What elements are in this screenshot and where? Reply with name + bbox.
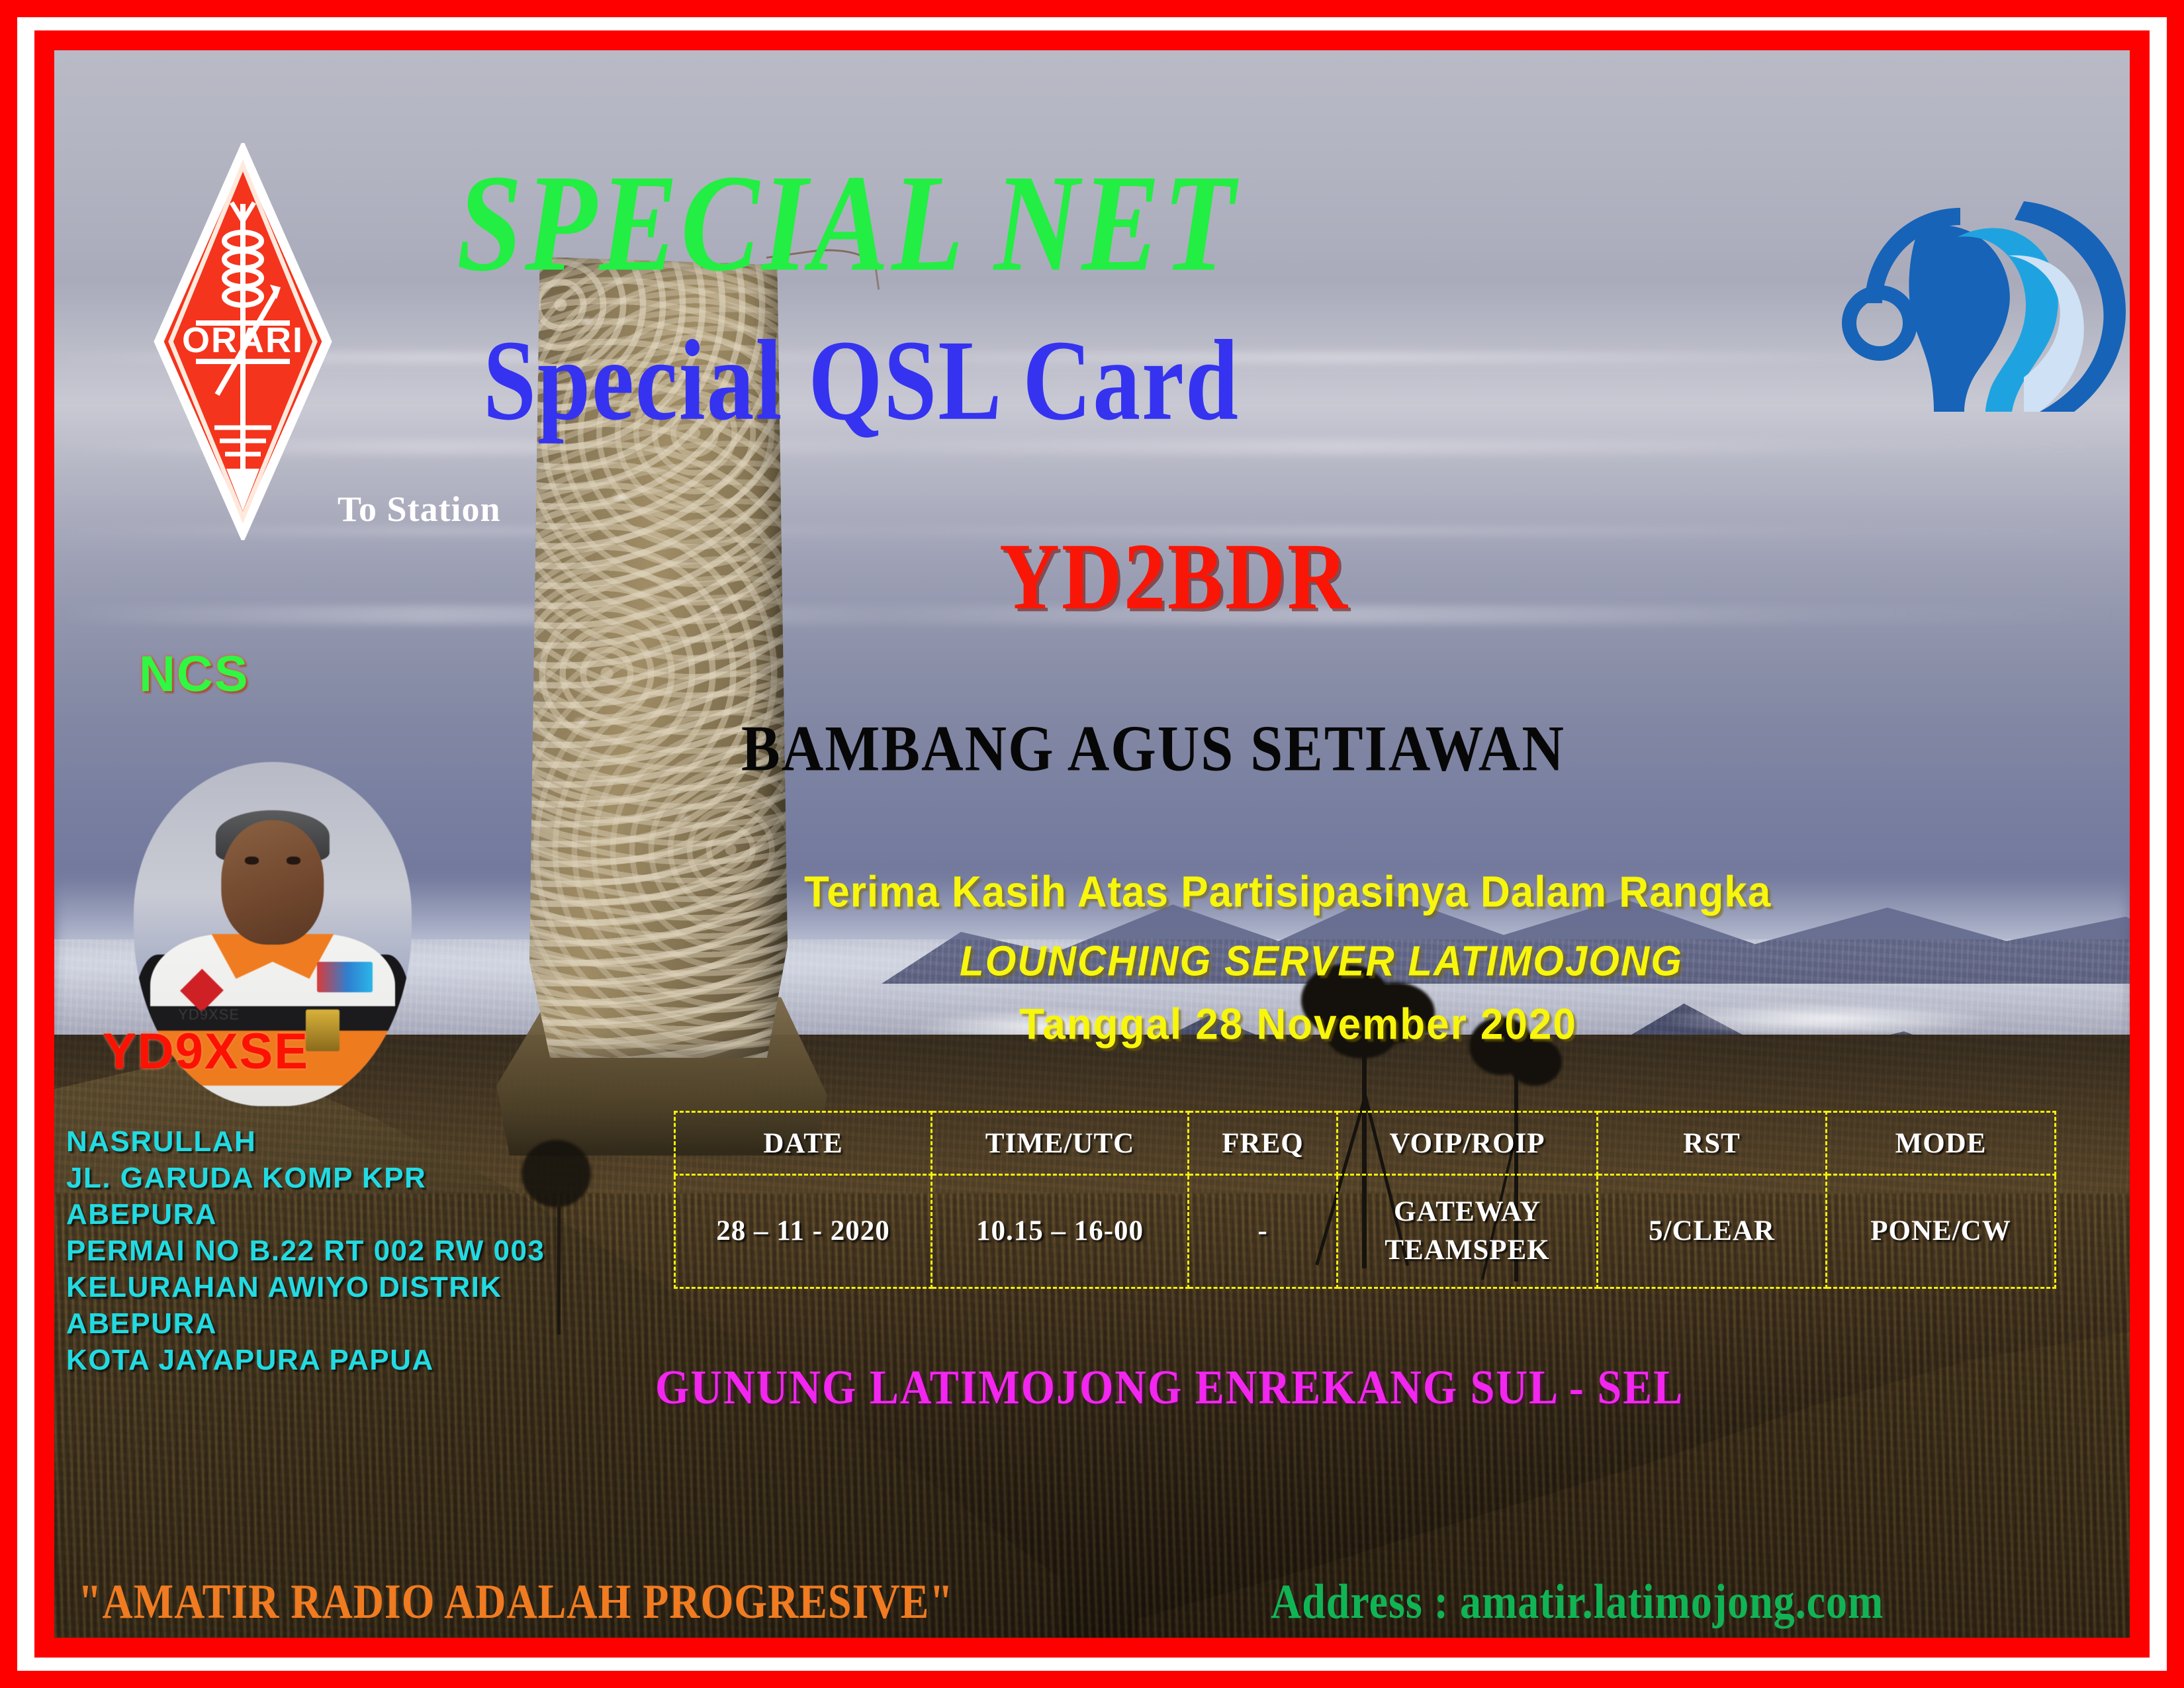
qso-details-table: DATE TIME/UTC FREQ VOIP/ROIP RST MODE 28… xyxy=(674,1111,2056,1289)
address-line: KOTA JAYAPURA PAPUA xyxy=(66,1342,545,1378)
address-line: NASRULLAH xyxy=(66,1123,545,1160)
address-line: JL. GARUDA KOMP KPR xyxy=(66,1160,545,1196)
address-line: ABEPURA xyxy=(66,1196,545,1233)
qsl-card: ORARI xyxy=(0,0,2184,1688)
address-line: ABEPURA xyxy=(66,1305,545,1342)
ncs-label: NCS xyxy=(139,645,249,703)
headset-speech-waves-logo xyxy=(1841,150,2126,414)
col-header-time-utc: TIME/UTC xyxy=(932,1112,1189,1175)
address-line: KELURAHAN AWIYO DISTRIK xyxy=(66,1269,545,1305)
cell-date: 28 – 11 - 2020 xyxy=(675,1175,932,1288)
table-row: 28 – 11 - 2020 10.15 – 16-00 - GATEWAY T… xyxy=(675,1175,2056,1288)
footer-motto: "AMATIR RADIO ADALAH PROGRESIVE" xyxy=(78,1574,954,1630)
col-header-mode: MODE xyxy=(1827,1112,2056,1175)
ncs-callsign: YD9XSE xyxy=(103,1023,309,1080)
table-header-row: DATE TIME/UTC FREQ VOIP/ROIP RST MODE xyxy=(675,1112,2056,1175)
voip-roip-line-2: TEAMSPEK xyxy=(1338,1231,1596,1270)
voip-roip-line-1: GATEWAY xyxy=(1338,1193,1596,1231)
footer-web-address: Address : amatir.latimojong.com xyxy=(1271,1574,1884,1630)
shirt-callsign-text: YD9XSE xyxy=(178,1006,240,1023)
ncs-address-block: NASRULLAH JL. GARUDA KOMP KPR ABEPURA PE… xyxy=(66,1123,545,1378)
cell-voip-roip: GATEWAY TEAMSPEK xyxy=(1338,1175,1598,1288)
svg-text:ORARI: ORARI xyxy=(182,320,304,360)
event-date-line: Tanggal 28 November 2020 xyxy=(1019,1000,1577,1049)
col-header-date: DATE xyxy=(675,1112,932,1175)
event-line-1: Terima Kasih Atas Partisipasinya Dalam R… xyxy=(804,867,1771,917)
operator-name: BAMBANG AGUS SETIAWAN xyxy=(741,712,1565,786)
col-header-rst: RST xyxy=(1598,1112,1827,1175)
col-header-freq: FREQ xyxy=(1189,1112,1338,1175)
address-line: PERMAI NO B.22 RT 002 RW 003 xyxy=(66,1233,545,1269)
cell-time-utc: 10.15 – 16-00 xyxy=(932,1175,1189,1288)
to-station-label: To Station xyxy=(338,489,501,530)
cell-mode: PONE/CW xyxy=(1827,1175,2056,1288)
cell-freq: - xyxy=(1189,1175,1338,1288)
col-header-voip-roip: VOIP/ROIP xyxy=(1338,1112,1598,1175)
event-location: GUNUNG LATIMOJONG ENREKANG SUL - SEL xyxy=(655,1360,1684,1416)
station-callsign: YD2BDR xyxy=(999,523,1349,632)
subtitle-special-qsl-card: Special QSL Card xyxy=(483,314,1240,447)
event-line-2: LOUNCHING SERVER LATIMOJONG xyxy=(960,937,1683,985)
orari-diamond-logo: ORARI xyxy=(154,143,332,540)
cell-rst: 5/CLEAR xyxy=(1598,1175,1827,1288)
page-title-special-net: SPECIAL NET xyxy=(457,142,1238,303)
